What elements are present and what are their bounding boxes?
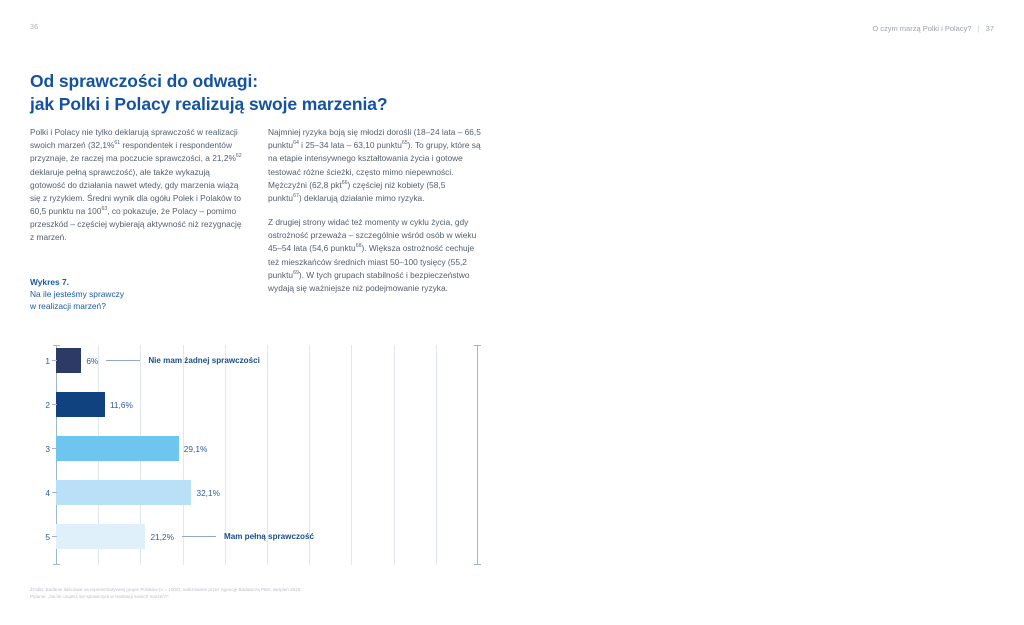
figure-7-bar (56, 436, 179, 461)
figure-7-bar-row: 211,6% (56, 392, 133, 417)
page-number-left: 36 (30, 24, 38, 31)
footnote-ref-69: 69 (293, 270, 299, 276)
figure-7-bar-value: 32,1% (196, 488, 220, 498)
figure-7-end-rule (477, 345, 478, 565)
page-title-line1: Od sprawczości do odwagi: (30, 71, 258, 91)
gridline (351, 345, 352, 565)
figure-7-tick-mark (52, 360, 57, 361)
page-spread: 36 Od sprawczości do odwagi: jak Polki i… (0, 0, 1024, 625)
footnote-ref-64: 64 (293, 140, 299, 146)
figure-7-bar-value: 21,2% (150, 532, 174, 542)
figure-7-plot-area: 16%Nie mam żadnej sprawczości211,6%329,1… (56, 345, 478, 565)
figure-7-tick-label: 2 (36, 400, 50, 410)
figure-7-source-line1: Źródło: Badanie ilościowe na reprezentat… (30, 586, 450, 594)
figure-7-tick-label: 3 (36, 444, 50, 454)
body-paragraph-3: Z drugiej strony widać też momenty w cyk… (268, 216, 481, 295)
body-paragraph-1: Polki i Polacy nie tylko deklarują spraw… (30, 126, 243, 245)
page-title: Od sprawczości do odwagi: jak Polki i Po… (30, 70, 450, 117)
left-page: 36 Od sprawczości do odwagi: jak Polki i… (0, 0, 512, 625)
page-title-line2: jak Polki i Polacy realizują swoje marze… (30, 93, 450, 116)
figure-7-source: Źródło: Badanie ilościowe na reprezentat… (30, 586, 450, 601)
figure-7-tick-label: 4 (36, 488, 50, 498)
figure-7-bar-row: 16%Nie mam żadnej sprawczości (56, 348, 260, 373)
footnote-ref-65: 65 (402, 140, 408, 146)
axis-cap-top (53, 345, 60, 346)
running-head-right: O czym marzą Polki i Polacy? | 37 (872, 24, 994, 33)
end-cap-bottom (474, 564, 481, 565)
figure-7-tick-mark (52, 448, 57, 449)
footnote-ref-68: 68 (356, 244, 362, 250)
figure-7-tick-mark (52, 536, 57, 537)
figure-7-bar-row: 521,2%Mam pełną sprawczość (56, 524, 314, 549)
page-number-right: 37 (986, 24, 994, 33)
figure-7-subtitle-line1: Na ile jesteśmy sprawczy (30, 288, 260, 300)
gridline (394, 345, 395, 565)
body-column-2: Najmniej ryzyka boją się młodzi dorośli … (268, 126, 481, 306)
figure-7-tick-mark (52, 404, 57, 405)
footnote-ref-67: 67 (293, 193, 299, 199)
figure-7-bar-value: 6% (86, 356, 98, 366)
figure-7-source-line2: Pytanie: „Na ile czujesz się sprawczy/a … (30, 593, 450, 601)
figure-7-bar (56, 348, 81, 373)
figure-7-leader-line (182, 536, 216, 537)
gridline (436, 345, 437, 565)
axis-cap-bottom (53, 564, 60, 565)
footnote-ref-63: 63 (101, 206, 107, 212)
end-cap-top (474, 345, 481, 346)
running-head-separator: | (978, 24, 980, 33)
right-page: O czym marzą Polki i Polacy? | 37 Wykres… (512, 0, 1024, 625)
figure-7-subtitle-line2: w realizacji marzeń? (30, 300, 260, 312)
figure-7-number: Wykres 7. (30, 276, 260, 288)
figure-7-bar (56, 524, 145, 549)
footnote-ref-61: 61 (114, 140, 120, 146)
figure-7-bar-value: 11,6% (110, 400, 133, 410)
figure-7-bar (56, 392, 105, 417)
figure-7-tick-label: 5 (36, 532, 50, 542)
running-head-title: O czym marzą Polki i Polacy? (872, 24, 971, 33)
figure-7-leader-line (106, 360, 140, 361)
figure-7-tick-mark (52, 492, 57, 493)
figure-7-caption: Wykres 7. Na ile jesteśmy sprawczy w rea… (30, 276, 260, 313)
body-paragraph-2: Najmniej ryzyka boją się młodzi dorośli … (268, 126, 481, 205)
footnote-ref-62: 62 (236, 154, 242, 160)
figure-7-bar-row: 432,1% (56, 480, 220, 505)
figure-7-tick-label: 1 (36, 356, 50, 366)
footnote-ref-66: 66 (342, 180, 348, 186)
figure-7-annotation: Mam pełną sprawczość (224, 532, 314, 541)
figure-7-bar (56, 480, 191, 505)
figure-7-chart: 16%Nie mam żadnej sprawczości211,6%329,1… (30, 345, 478, 575)
figure-7-bar-row: 329,1% (56, 436, 207, 461)
figure-7-bar-value: 29,1% (184, 444, 208, 454)
figure-7-annotation: Nie mam żadnej sprawczości (148, 356, 260, 365)
